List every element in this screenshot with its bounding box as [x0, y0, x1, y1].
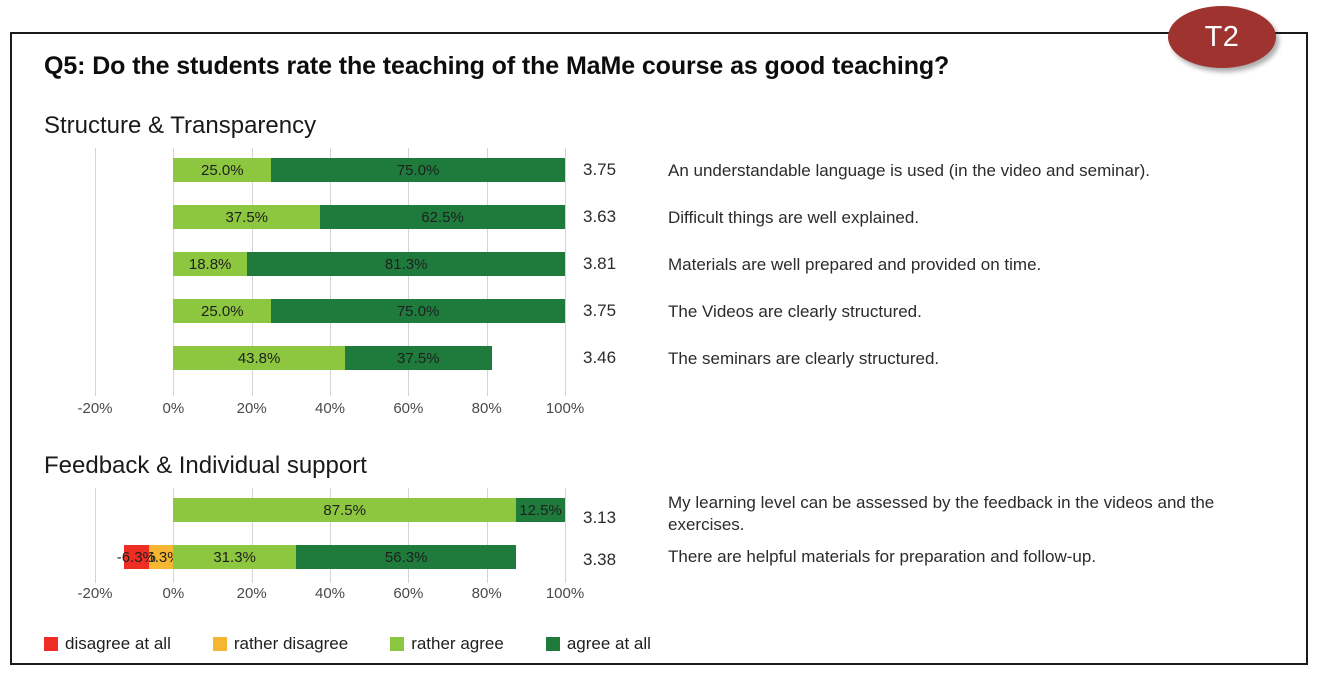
- bar-segment-disagree-at-all: -6.3%: [124, 545, 149, 569]
- page-title: Q5: Do the students rate the teaching of…: [44, 52, 949, 81]
- table-row: 37.5%62.5%: [95, 205, 565, 229]
- structure-tick-label: -20%: [77, 400, 112, 417]
- legend-item: rather disagree: [213, 634, 348, 654]
- feedback-tick-label: -20%: [77, 585, 112, 602]
- table-row: 18.8%81.3%: [95, 252, 565, 276]
- feedback-tick-label: 80%: [472, 585, 502, 602]
- legend-label: disagree at all: [65, 634, 171, 654]
- bar-segment-agree-at-all: 56.3%: [296, 545, 517, 569]
- feedback-tick-label: 60%: [393, 585, 423, 602]
- x-axis-feedback: -20%0%20%40%60%80%100%: [95, 585, 565, 605]
- feedback-tick-label: 0%: [162, 585, 184, 602]
- mean-value: 3.75: [583, 160, 616, 180]
- structure-tick-label: 0%: [162, 400, 184, 417]
- bar-segment-rather-agree: 31.3%: [173, 545, 296, 569]
- bar-segment-rather-agree: 37.5%: [173, 205, 320, 229]
- legend-swatch-icon: [44, 637, 58, 651]
- mean-value: 3.75: [583, 301, 616, 321]
- mean-value: 3.63: [583, 207, 616, 227]
- bar-segment-agree-at-all: 81.3%: [247, 252, 565, 276]
- feedback-tick-label: 100%: [546, 585, 584, 602]
- statement-text: There are helpful materials for preparat…: [668, 546, 1293, 568]
- legend-label: agree at all: [567, 634, 651, 654]
- structure-tick-label: 80%: [472, 400, 502, 417]
- statement-text: Materials are well prepared and provided…: [668, 254, 1293, 276]
- mean-value: 3.13: [583, 508, 616, 528]
- chart-feedback-support: 87.5%12.5%-6.3%-6.3%31.3%56.3%: [95, 488, 565, 583]
- structure-tick-label: 60%: [393, 400, 423, 417]
- section-heading-feedback: Feedback & Individual support: [44, 452, 367, 480]
- mean-value: 3.46: [583, 348, 616, 368]
- mean-value: 3.81: [583, 254, 616, 274]
- statement-text: My learning level can be assessed by the…: [668, 492, 1293, 536]
- bar-segment-agree-at-all: 12.5%: [516, 498, 565, 522]
- structure-tick-label: 40%: [315, 400, 345, 417]
- legend-item: rather agree: [390, 634, 504, 654]
- t2-badge: T2: [1168, 6, 1276, 68]
- structure-tick-label: 20%: [237, 400, 267, 417]
- statement-text: The Videos are clearly structured.: [668, 301, 1293, 323]
- bar-segment-rather-agree: 87.5%: [173, 498, 516, 522]
- feedback-tick-label: 20%: [237, 585, 267, 602]
- legend-item: disagree at all: [44, 634, 171, 654]
- bar-segment-rather-agree: 25.0%: [173, 299, 271, 323]
- bar-segment-rather-agree: 25.0%: [173, 158, 271, 182]
- bar-segment-agree-at-all: 75.0%: [271, 299, 565, 323]
- legend-label: rather agree: [411, 634, 504, 654]
- bar-segment-rather-agree: 43.8%: [173, 346, 345, 370]
- feedback-tick-label: 40%: [315, 585, 345, 602]
- chart-legend: disagree at allrather disagreerather agr…: [44, 634, 693, 654]
- legend-item: agree at all: [546, 634, 651, 654]
- bar-segment-agree-at-all: 37.5%: [345, 346, 492, 370]
- statement-text: The seminars are clearly structured.: [668, 348, 1293, 370]
- bar-segment-rather-agree: 18.8%: [173, 252, 247, 276]
- x-axis-structure: -20%0%20%40%60%80%100%: [95, 400, 565, 420]
- structure-tick-label: 100%: [546, 400, 584, 417]
- legend-swatch-icon: [390, 637, 404, 651]
- t2-badge-label: T2: [1205, 21, 1240, 54]
- chart-structure-transparency: 25.0%75.0%37.5%62.5%18.8%81.3%25.0%75.0%…: [95, 148, 565, 396]
- statement-text: Difficult things are well explained.: [668, 207, 1293, 229]
- table-row: 25.0%75.0%: [95, 299, 565, 323]
- legend-swatch-icon: [546, 637, 560, 651]
- legend-swatch-icon: [213, 637, 227, 651]
- legend-label: rather disagree: [234, 634, 348, 654]
- bar-segment-agree-at-all: 75.0%: [271, 158, 565, 182]
- table-row: -6.3%-6.3%31.3%56.3%: [95, 545, 565, 569]
- gridline-100pct: [565, 488, 566, 583]
- statement-text: An understandable language is used (in t…: [668, 160, 1293, 182]
- table-row: 43.8%37.5%: [95, 346, 565, 370]
- section-heading-structure: Structure & Transparency: [44, 112, 316, 140]
- bar-segment-agree-at-all: 62.5%: [320, 205, 565, 229]
- mean-value: 3.38: [583, 550, 616, 570]
- table-row: 87.5%12.5%: [95, 498, 565, 522]
- table-row: 25.0%75.0%: [95, 158, 565, 182]
